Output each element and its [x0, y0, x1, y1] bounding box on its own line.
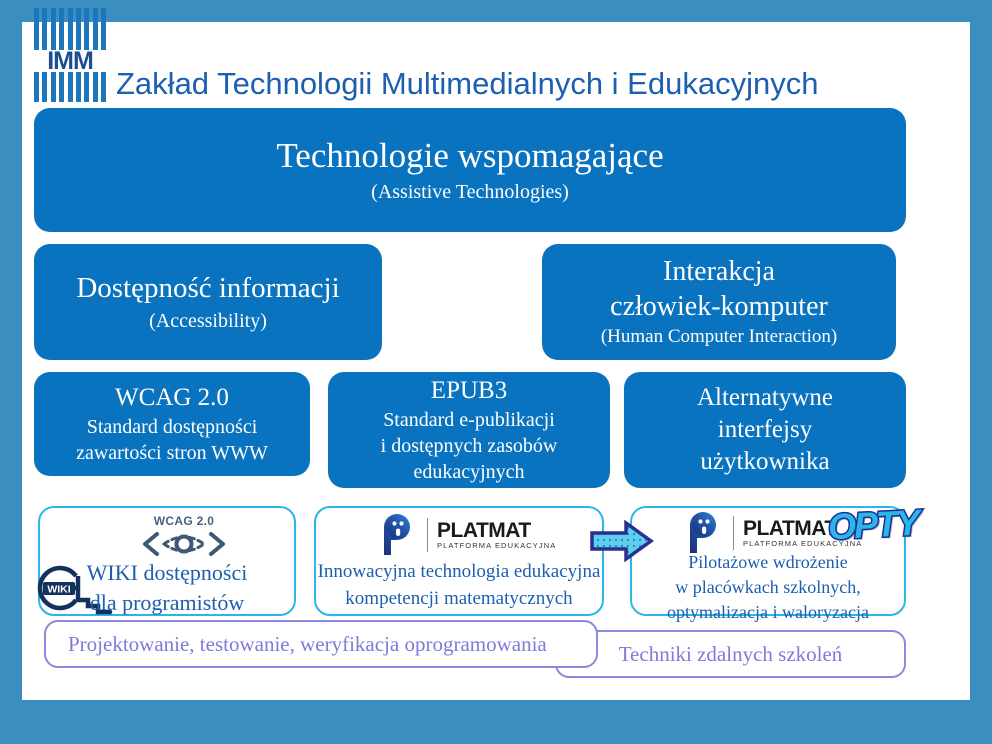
- footer-box-remote-training-label: Techniki zdalnych szkoleń: [619, 642, 843, 667]
- box-assistive-technologies: Technologie wspomagające (Assistive Tech…: [34, 108, 906, 232]
- project-box-platmat-caption-line1: Innowacyjna technologia edukacyjna: [316, 558, 602, 585]
- opty-logo: OPTY: [827, 502, 919, 549]
- project-box-platmat-caption-line2: kompetencji matematycznych: [316, 585, 602, 612]
- project-box-pilot-caption-line1: Pilotażowe wdrożenie: [632, 550, 904, 575]
- box-hci-subtitle: (Human Computer Interaction): [601, 324, 837, 350]
- eye-icon: [141, 530, 227, 558]
- project-box-pilot: PLATMAT PLATFORMA EDUKACYJNA OPTY Pilota…: [630, 506, 906, 616]
- imm-logo-text: IMM: [34, 48, 106, 74]
- box-hci: Interakcja człowiek-komputer (Human Comp…: [542, 244, 896, 360]
- footer-box-remote-training: Techniki zdalnych szkoleń: [555, 630, 906, 678]
- box-assistive-technologies-title: Technologie wspomagające: [276, 134, 663, 178]
- right-arrow-icon: [590, 520, 654, 562]
- wcag-logo-label: WCAG 2.0: [134, 514, 234, 528]
- box-assistive-technologies-subtitle: (Assistive Technologies): [371, 178, 569, 206]
- box-wcag-title: WCAG 2.0: [115, 382, 229, 414]
- imm-logo-bars-bottom: [34, 72, 106, 102]
- box-alternative-interfaces-line1: interfejsy: [718, 414, 812, 446]
- box-accessibility: Dostępność informacji (Accessibility): [34, 244, 382, 360]
- box-alternative-interfaces-line2: użytkownika: [700, 446, 829, 478]
- platmat-p-icon: [684, 512, 724, 554]
- slide-white-panel: IMM Zakład Technologii Multimedialnych i…: [22, 22, 970, 700]
- box-wcag: WCAG 2.0 Standard dostępności zawartości…: [34, 372, 310, 476]
- box-hci-title-line1: Interakcja: [663, 254, 775, 289]
- platmat-p-icon: [378, 514, 418, 556]
- page-title: Zakład Technologii Multimedialnych i Edu…: [116, 66, 818, 102]
- box-epub3-title: EPUB3: [431, 375, 507, 407]
- platmat-logo-divider: [427, 518, 428, 552]
- box-alternative-interfaces: Alternatywne interfejsy użytkownika: [624, 372, 906, 488]
- imm-logo-bars-top: [34, 8, 106, 50]
- box-wcag-line1: Standard dostępności: [87, 414, 258, 440]
- project-box-pilot-caption-line2: w placówkach szkolnych,: [632, 575, 904, 600]
- footer-box-software-engineering-label: Projektowanie, testowanie, weryfikacja o…: [68, 632, 547, 657]
- platmat-logo-name: PLATMAT: [437, 520, 556, 541]
- imm-barcode-logo: IMM: [34, 8, 106, 106]
- project-box-pilot-caption: Pilotażowe wdrożenie w placówkach szkoln…: [632, 550, 904, 625]
- box-hci-title-line2: człowiek-komputer: [610, 289, 828, 324]
- box-epub3-line1: Standard e-publikacji: [383, 407, 555, 433]
- project-box-wiki-caption: WIKI dostępności dla programistów: [40, 558, 294, 618]
- footer-box-software-engineering: Projektowanie, testowanie, weryfikacja o…: [44, 620, 598, 668]
- wcag-2.0-eye-logo: WCAG 2.0: [134, 514, 234, 563]
- slide-header: IMM Zakład Technologii Multimedialnych i…: [22, 22, 970, 110]
- slide-root: IMM Zakład Technologii Multimedialnych i…: [0, 0, 992, 744]
- box-accessibility-title: Dostępność informacji: [76, 269, 339, 307]
- project-box-wiki: WCAG 2.0 WIKI: [38, 506, 296, 616]
- project-box-platmat-caption: Innowacyjna technologia edukacyjna kompe…: [316, 558, 602, 612]
- platmat-logo-subtitle: PLATFORMA EDUKACYJNA: [437, 541, 556, 551]
- box-alternative-interfaces-title: Alternatywne: [697, 382, 833, 414]
- box-epub3-line3: edukacyjnych: [413, 459, 524, 485]
- platmat-logo: PLATMAT PLATFORMA EDUKACYJNA: [378, 514, 556, 556]
- platmat-logo-divider: [733, 516, 734, 550]
- box-accessibility-subtitle: (Accessibility): [149, 307, 267, 335]
- project-box-wiki-caption-line2: dla programistów: [40, 588, 294, 618]
- project-box-platmat: PLATMAT PLATFORMA EDUKACYJNA Innowacyjna…: [314, 506, 604, 616]
- box-epub3: EPUB3 Standard e-publikacji i dostępnych…: [328, 372, 610, 488]
- box-wcag-line2: zawartości stron WWW: [76, 440, 268, 466]
- box-epub3-line2: i dostępnych zasobów: [381, 433, 558, 459]
- project-box-pilot-caption-line3: optymalizacja i waloryzacja: [632, 600, 904, 625]
- project-box-wiki-caption-line1: WIKI dostępności: [40, 558, 294, 588]
